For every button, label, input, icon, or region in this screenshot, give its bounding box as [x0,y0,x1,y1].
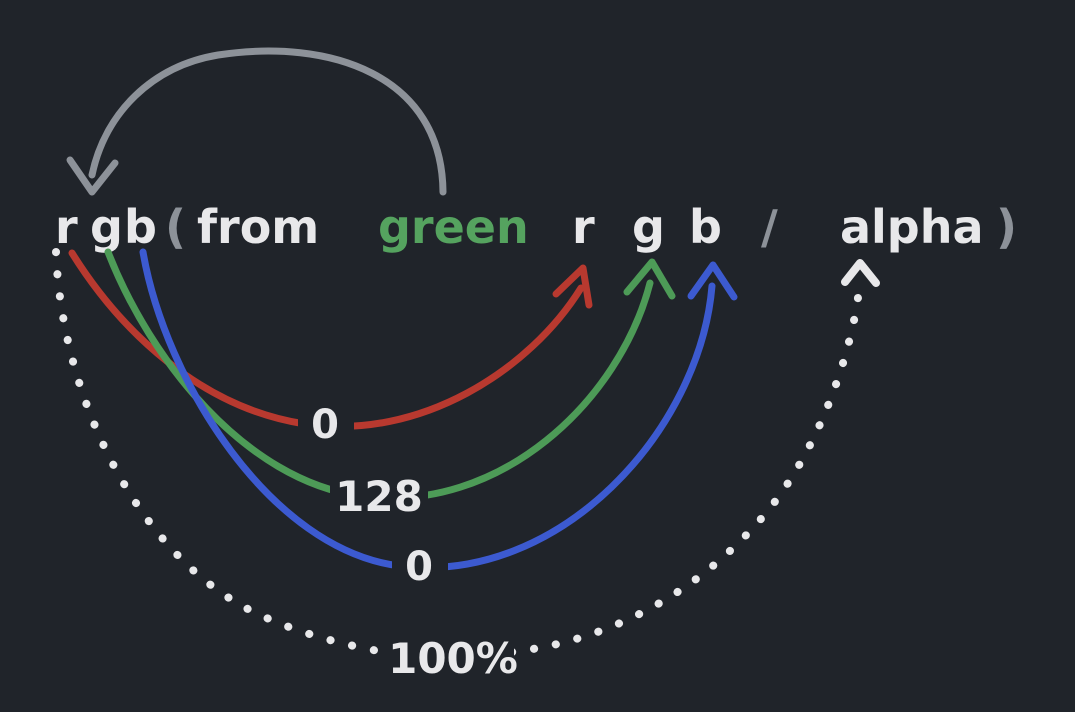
token-b-channel: b [689,200,722,254]
alpha-channel-value: 100% [388,634,518,683]
diagram-canvas: r g b ( from green r g b / alpha ) [0,0,1075,712]
token-green-color: green [378,200,529,254]
blue-channel-value: 0 [405,544,433,590]
red-channel-value: 0 [311,402,339,448]
from-keyword-arrow-group [70,51,443,192]
relative-color-syntax-diagram: r g b ( from green r g b / alpha ) [0,0,1075,712]
token-b-out: b [124,200,157,254]
token-r-channel: r [572,200,595,254]
token-g-channel: g [632,200,665,254]
alpha-arrowhead [845,263,876,283]
blue-channel-value-group: 0 [392,540,448,592]
token-open-paren: ( [165,200,186,254]
token-close-paren: ) [996,200,1017,254]
token-from: from [197,200,319,254]
token-alpha: alpha [840,200,984,254]
green-channel-value-group: 128 [330,470,428,522]
alpha-channel-value-group: 100% [388,630,518,684]
green-channel-value: 128 [335,472,423,521]
token-r-out: r [55,200,78,254]
token-slash: / [761,200,778,254]
token-g-out: g [90,200,123,254]
syntax-line: r g b ( from green r g b / alpha ) [55,200,1017,254]
alpha-arrow-path-left [56,252,395,654]
alpha-arrow-path-right [512,290,859,652]
red-channel-value-group: 0 [298,398,354,450]
from-keyword-arrow-path [92,51,443,192]
alpha-channel-arrow-group [56,252,876,654]
